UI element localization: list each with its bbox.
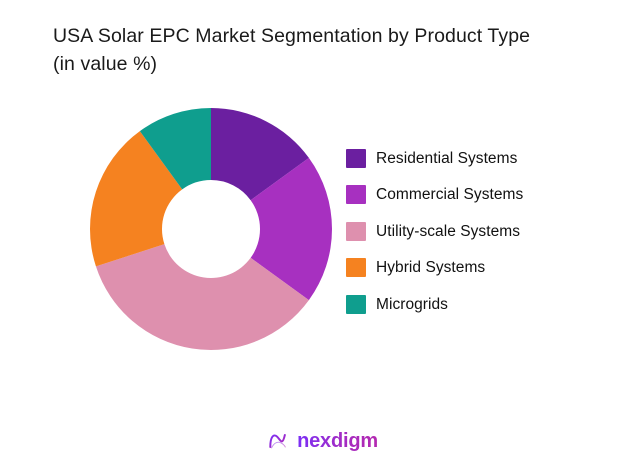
- legend-item-residential-systems[interactable]: Residential Systems: [346, 141, 606, 175]
- legend-item-utility-scale-systems[interactable]: Utility-scale Systems: [346, 214, 606, 248]
- legend-swatch-utility-scale-systems: [346, 222, 366, 241]
- legend-item-microgrids[interactable]: Microgrids: [346, 287, 606, 321]
- legend-label-hybrid-systems: Hybrid Systems: [376, 258, 485, 277]
- brand-footer: nexdigm: [0, 425, 644, 457]
- legend-swatch-residential-systems: [346, 149, 366, 168]
- legend-swatch-commercial-systems: [346, 185, 366, 204]
- nexdigm-wave-logo-icon: [266, 429, 290, 453]
- legend-item-commercial-systems[interactable]: Commercial Systems: [346, 178, 606, 212]
- donut-slice-group: [90, 108, 332, 350]
- legend-label-residential-systems: Residential Systems: [376, 149, 517, 168]
- legend-item-hybrid-systems[interactable]: Hybrid Systems: [346, 251, 606, 285]
- legend-label-utility-scale-systems: Utility-scale Systems: [376, 222, 520, 241]
- donut-chart-svg: [90, 108, 332, 350]
- legend-swatch-microgrids: [346, 295, 366, 314]
- donut-chart: [90, 108, 332, 350]
- legend-swatch-hybrid-systems: [346, 258, 366, 277]
- chart-page: USA Solar EPC Market Segmentation by Pro…: [0, 0, 644, 475]
- page-title: USA Solar EPC Market Segmentation by Pro…: [53, 22, 598, 78]
- brand-name: nexdigm: [297, 429, 378, 453]
- legend-label-microgrids: Microgrids: [376, 295, 448, 314]
- chart-legend: Residential Systems Commercial Systems U…: [346, 141, 606, 324]
- legend-label-commercial-systems: Commercial Systems: [376, 185, 523, 204]
